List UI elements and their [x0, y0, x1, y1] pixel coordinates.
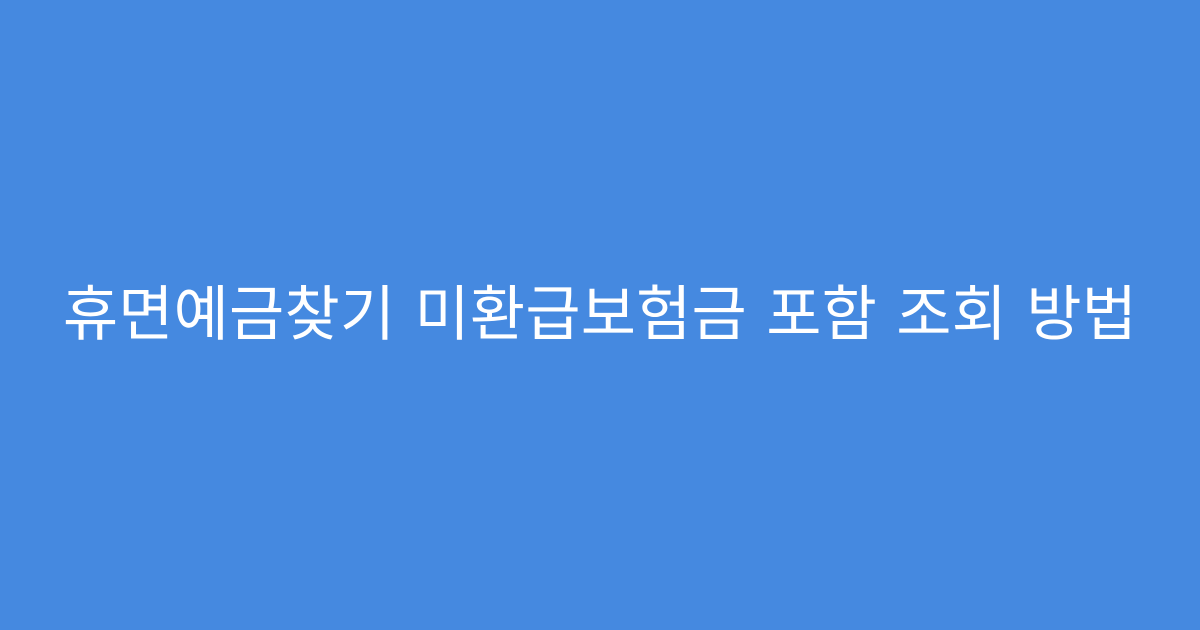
- social-share-card: 휴면예금찾기 미환급보험금 포함 조회 방법: [0, 0, 1200, 630]
- card-title: 휴면예금찾기 미환급보험금 포함 조회 방법: [63, 280, 1137, 351]
- card-title-container: 휴면예금찾기 미환급보험금 포함 조회 방법: [50, 280, 1150, 351]
